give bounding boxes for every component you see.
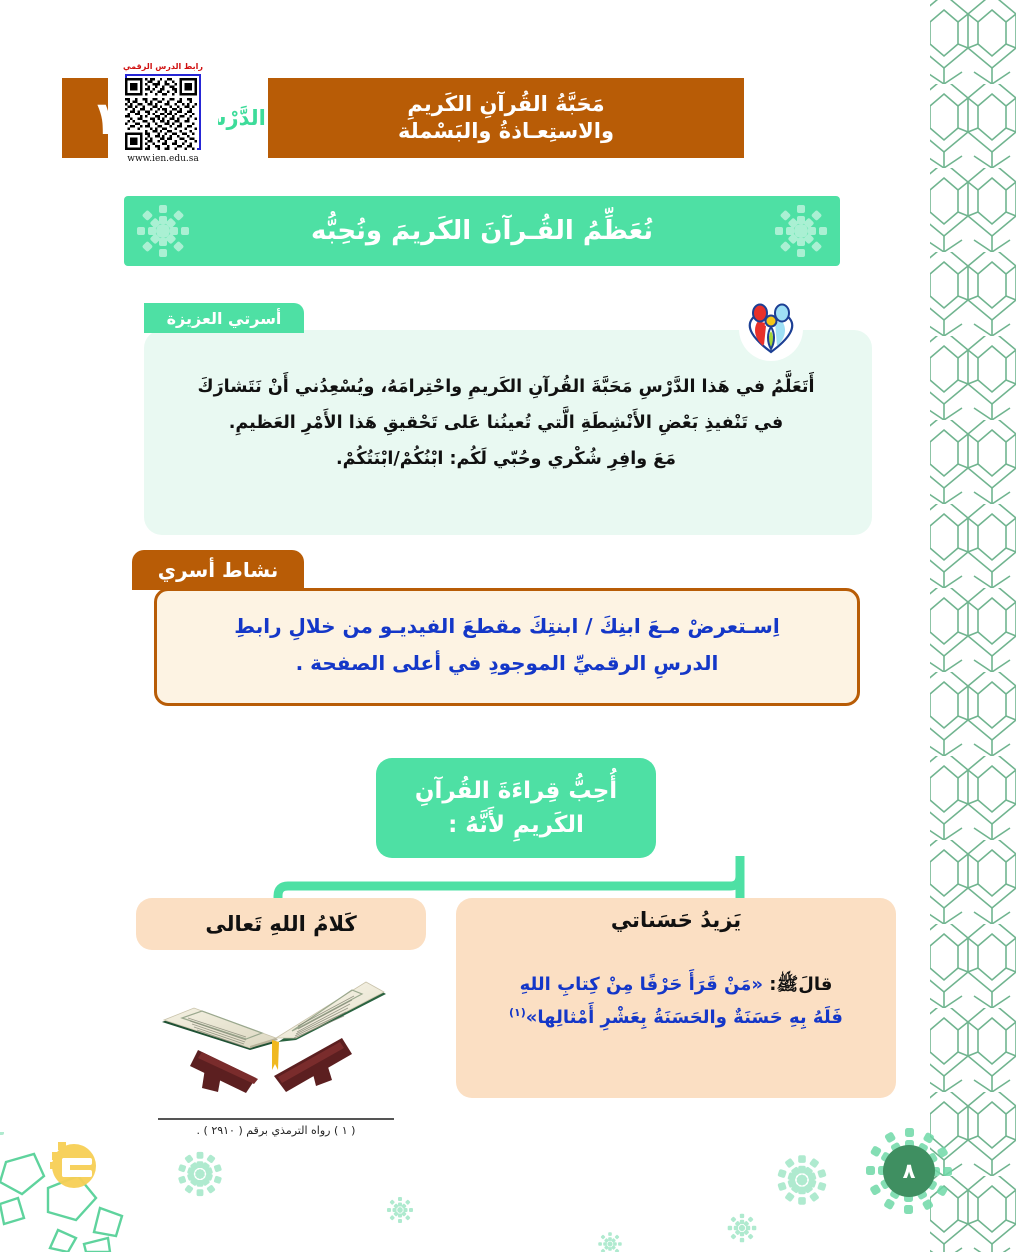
flowchart-root-line-1: أُحِبُّ قِراءَةَ القُرآنِ [415, 774, 617, 809]
floral-medallion-icon [130, 198, 196, 264]
hadith-text-line-2: فَلَهُ بِهِ حَسَنَةٌ والحَسَنَةُ بِعَشْر… [526, 1007, 843, 1028]
lesson-title-line-1: مَحَبَّةُ القُرآنِ الكَريمِ [407, 91, 604, 118]
page-number: ٨ [883, 1145, 935, 1197]
section-title-text: نُعَظِّمُ القُـرآنَ الكَريمَ ونُحِبُّه [311, 216, 653, 246]
family-activity-text: اِسـتعرضْ مـعَ ابنِكَ / ابنتِكَ مقطعَ ال… [174, 608, 840, 682]
footnote-text: ( ١ ) رواه الترمذي برقم ( ٢٩١٠ ) . [158, 1124, 394, 1137]
textbook-page: ١ الدَّرْسُ الأَوَّلُ مَحَبَّةُ القُرآنِ… [0, 0, 1016, 1252]
section-title-banner: نُعَظِّمُ القُـرآنَ الكَريمَ ونُحِبُّه [124, 196, 840, 266]
hadith-reference-marker: (١) [509, 1006, 526, 1019]
flowchart-root-node: أُحِبُّ قِراءَةَ القُرآنِ الكَريمِ لأَنَ… [376, 758, 656, 858]
floral-medallion-icon [768, 198, 834, 264]
family-message-tab: أسرتي العزيزة [144, 303, 304, 333]
family-activity-tab: نشاط أسري [132, 550, 304, 590]
flowchart-node-right: كَلامُ اللهِ تَعالى [136, 898, 426, 950]
arabesque-border-pattern [920, 0, 1016, 1252]
qr-code-icon[interactable] [125, 74, 201, 150]
family-message-line: أَتَعَلَّمُ في هَذا الدَّرْسِ مَحَبَّةَ … [156, 370, 856, 406]
hadith-said-prefix: قالَ [798, 974, 832, 995]
flowchart-root-line-2: الكَريمِ لأَنَّهُ : [448, 808, 584, 843]
lesson-title-band: مَحَبَّةُ القُرآنِ الكَريمِ والاستِعـاذة… [268, 78, 744, 158]
family-message-line: في تَنْفيذِ بَعْضِ الأَنْشِطَةِ الَّتي ت… [156, 406, 856, 442]
flowchart-node-left-label: يَزيدُ حَسَناتي [456, 908, 896, 932]
page-number-badge: ٨ [864, 1126, 954, 1216]
footnote-divider [158, 1118, 394, 1120]
prophet-honorific-icon: ﷺ [776, 974, 798, 995]
qr-card-url[interactable]: www.ien.edu.sa [127, 154, 199, 164]
open-quran-on-stand-image [146, 958, 416, 1108]
digital-lesson-qr-card[interactable]: رابط الدرس الرقمي [108, 0, 218, 170]
family-activity-line: الدرسِ الرقميِّ الموجودِ في أعلى الصفحة … [174, 645, 840, 682]
hadith-quotation: قالَﷺ: «مَنْ قَرَأَ حَرْفًا مِنْ كِتابِ … [468, 968, 884, 1035]
family-activity-line: اِسـتعرضْ مـعَ ابنِكَ / ابنتِكَ مقطعَ ال… [174, 608, 840, 645]
hadith-text-line-1: «مَنْ قَرَأَ حَرْفًا مِنْ كِتابِ اللهِ [520, 974, 763, 995]
family-message-text: أَتَعَلَّمُ في هَذا الدَّرْسِ مَحَبَّةَ … [156, 370, 856, 478]
lesson-title-line-2: والاستِعـاذةُ والبَسْملة [398, 118, 614, 145]
qr-card-label: رابط الدرس الرقمي [123, 62, 203, 71]
family-heart-icon [738, 296, 804, 362]
family-message-line: مَعَ وافِرِ شُكْري وحُبّي لَكُم: ابْنُكُ… [156, 442, 856, 478]
